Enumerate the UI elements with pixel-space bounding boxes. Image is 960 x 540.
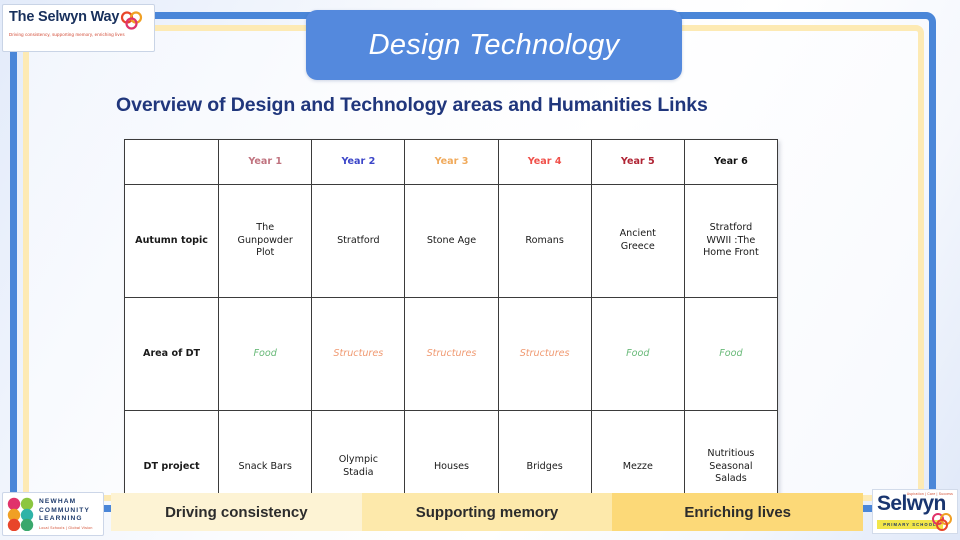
table-cell: Food xyxy=(684,298,777,411)
newham-logo-line-2: COMMUNITY xyxy=(39,507,93,515)
table-cell-line: Food xyxy=(222,348,308,361)
selwyn-school-name: Selwyn xyxy=(873,494,957,514)
table-cell-line: Structures xyxy=(315,348,401,361)
table-cell-line: Plot xyxy=(222,247,308,260)
table-cell-line: Home Front xyxy=(688,247,774,260)
table-cell: Food xyxy=(219,298,312,411)
table-cell: TheGunpowderPlot xyxy=(219,185,312,298)
newham-logo-tagline: Local Schools | Global Vision xyxy=(39,526,93,530)
newham-logo-line-1: NEWHAM xyxy=(39,498,93,506)
table-cell: Romans xyxy=(498,185,591,298)
table-column-header-year-2: Year 2 xyxy=(312,140,405,185)
table-cell-line: Greece xyxy=(595,241,681,254)
overview-table: Year 1Year 2Year 3Year 4Year 5Year 6Autu… xyxy=(124,139,778,524)
table-cell-line: Ancient xyxy=(595,228,681,241)
slide-canvas: The Selwyn Way Driving consistency, supp… xyxy=(0,0,960,540)
table-cell-line: Romans xyxy=(502,235,588,248)
table-cell: Stratford xyxy=(312,185,405,298)
table-cell-line: Food xyxy=(595,348,681,361)
table-header-row: Year 1Year 2Year 3Year 4Year 5Year 6 xyxy=(125,140,778,185)
table-cell-line: The xyxy=(222,222,308,235)
table-cell-line: WWII :The xyxy=(688,235,774,248)
table-cell-line: Stone Age xyxy=(408,235,494,248)
table-column-header-year-5: Year 5 xyxy=(591,140,684,185)
table-column-header-year-1: Year 1 xyxy=(219,140,312,185)
table-cell: Food xyxy=(591,298,684,411)
table-cell-line: Seasonal xyxy=(688,461,774,474)
table-cell-line: Food xyxy=(688,348,774,361)
selwyn-way-logo: The Selwyn Way Driving consistency, supp… xyxy=(2,4,155,52)
table-cell-line: Stratford xyxy=(315,235,401,248)
value-segment-driving-consistency: Driving consistency xyxy=(111,493,362,531)
overview-table-container: Year 1Year 2Year 3Year 4Year 5Year 6Autu… xyxy=(124,139,778,524)
page-heading: Overview of Design and Technology areas … xyxy=(116,94,708,117)
table-cell: Structures xyxy=(312,298,405,411)
table-corner-cell xyxy=(125,140,219,185)
table-cell-line: Olympic xyxy=(315,454,401,467)
newham-community-learning-logo: NEWHAM COMMUNITY LEARNING Local Schools … xyxy=(2,492,104,536)
table-cell: Structures xyxy=(405,298,498,411)
table-cell-line: Nutritious xyxy=(688,448,774,461)
value-segment-enriching-lives: Enriching lives xyxy=(612,493,863,531)
table-cell: Structures xyxy=(498,298,591,411)
table-cell-line: Structures xyxy=(408,348,494,361)
slide-title: Design Technology xyxy=(369,29,620,62)
table-row: Area of DTFoodStructuresStructuresStruct… xyxy=(125,298,778,411)
newham-logo-line-3: LEARNING xyxy=(39,515,93,523)
school-values-bar: Driving consistency Supporting memory En… xyxy=(111,493,863,531)
value-label: Enriching lives xyxy=(684,504,791,521)
table-cell-line: Salads xyxy=(688,473,774,486)
community-dots-icon xyxy=(6,497,36,531)
value-segment-supporting-memory: Supporting memory xyxy=(362,493,613,531)
table-column-header-year-3: Year 3 xyxy=(405,140,498,185)
table-cell-line: Structures xyxy=(502,348,588,361)
selwyn-primary-school-logo: Aspiration | Care | Success Selwyn PRIMA… xyxy=(872,489,958,534)
table-cell-line: Stratford xyxy=(688,222,774,235)
table-row-label: Autumn topic xyxy=(125,185,219,298)
table-cell-line: Snack Bars xyxy=(222,461,308,474)
value-label: Driving consistency xyxy=(165,504,308,521)
table-cell-line: Bridges xyxy=(502,461,588,474)
table-cell-line: Houses xyxy=(408,461,494,474)
table-cell: StratfordWWII :TheHome Front xyxy=(684,185,777,298)
table-column-header-year-4: Year 4 xyxy=(498,140,591,185)
table-cell: AncientGreece xyxy=(591,185,684,298)
value-label: Supporting memory xyxy=(416,504,559,521)
slide-title-banner: Design Technology xyxy=(306,10,682,80)
table-row-label: Area of DT xyxy=(125,298,219,411)
interlocking-rings-icon xyxy=(117,11,147,30)
table-column-header-year-6: Year 6 xyxy=(684,140,777,185)
table-cell-line: Gunpowder xyxy=(222,235,308,248)
selwyn-way-logo-subtitle: Driving consistency, supporting memory, … xyxy=(9,32,148,37)
table-cell-line: Stadia xyxy=(315,467,401,480)
table-row: Autumn topicTheGunpowderPlotStratfordSto… xyxy=(125,185,778,298)
interlocking-rings-icon xyxy=(929,512,955,532)
table-cell-line: Mezze xyxy=(595,461,681,474)
table-cell: Stone Age xyxy=(405,185,498,298)
